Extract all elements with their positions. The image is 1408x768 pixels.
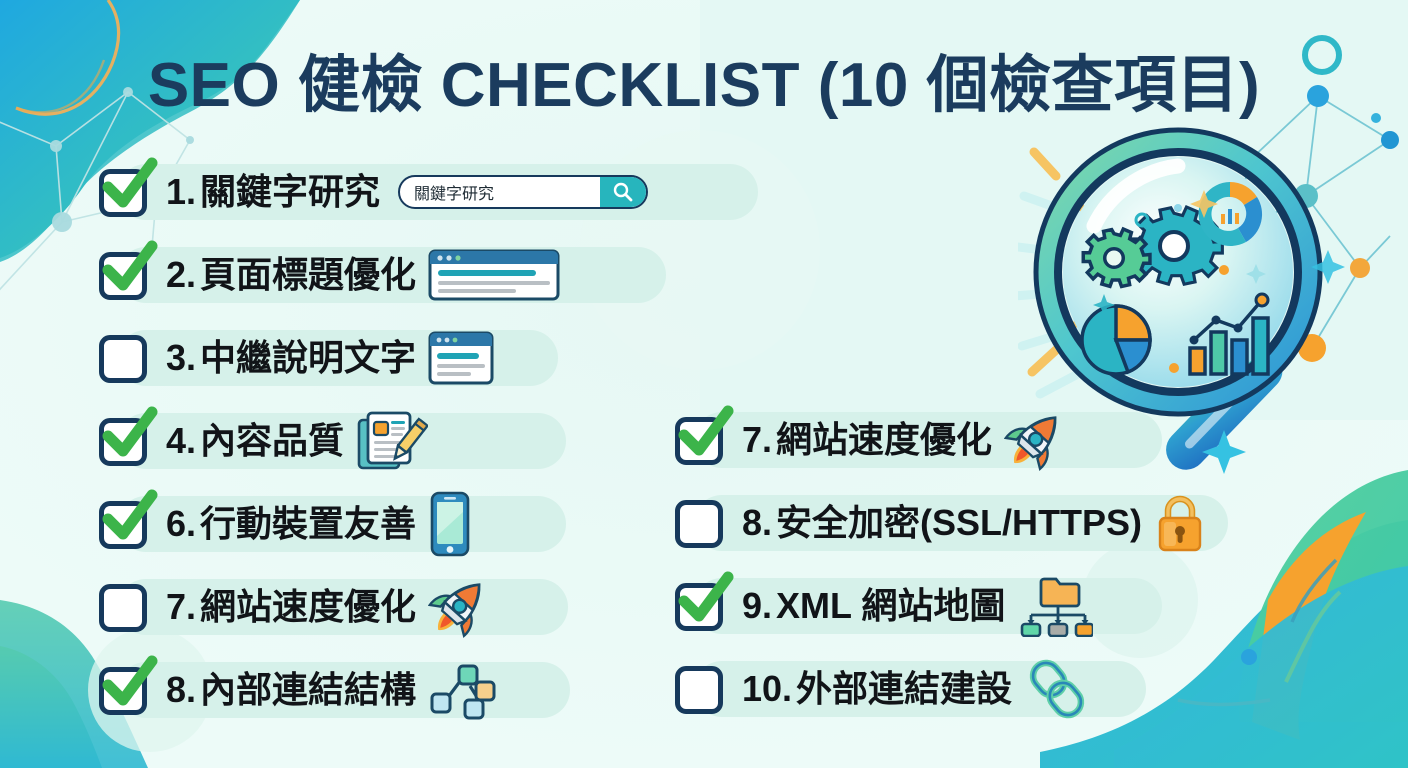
item-number: 10. [742,668,792,709]
checklist-item-3[interactable]: 3.中繼說明文字 [96,326,666,390]
item-text: 安全加密(SSL/HTTPS) [776,502,1142,543]
checkbox-unchecked[interactable] [672,494,730,552]
checklist-item-2[interactable]: 2.頁面標題優化 [96,243,666,307]
item-text: 網站速度優化 [200,586,416,627]
checklist-item-10[interactable]: 10.外部連結建設 [672,657,1232,721]
checkbox-checked[interactable] [672,411,730,469]
checkbox-checked[interactable] [96,412,154,470]
check-icon [674,569,736,631]
item-number: 3. [166,337,196,378]
checkbox-checked[interactable] [672,577,730,635]
checklist-item-4[interactable]: 4.內容品質 [96,409,666,473]
checklist-right-column: 7.網站速度優化 [672,408,1232,740]
checkbox-checked[interactable] [96,495,154,553]
search-icon [612,181,634,203]
link-nodes-icon [428,660,498,720]
item-label: 1.關鍵字研究 [166,174,380,210]
item-number: 4. [166,420,196,461]
checklist-item-6[interactable]: 6.行動裝置友善 [96,492,666,556]
chain-link-icon [1024,657,1090,721]
item-text: XML 網站地圖 [776,585,1005,626]
padlock-icon [1154,493,1206,553]
item-text: 關鍵字研究 [200,171,380,212]
item-text: 中繼說明文字 [200,337,416,378]
keyword-search-bar[interactable]: 關鍵字研究 [398,175,648,209]
mobile-phone-icon [428,491,472,557]
item-text: 內容品質 [200,420,344,461]
item-text: 內部連結結構 [200,669,416,710]
item-number: 7. [742,419,772,460]
item-text: 頁面標題優化 [200,254,416,295]
item-number: 8. [166,669,196,710]
item-label: 7.網站速度優化 [166,589,416,625]
search-button[interactable] [600,177,646,207]
rocket-icon [1004,408,1066,472]
check-icon [98,238,160,300]
checklist-item-1[interactable]: 1.關鍵字研究 關鍵字研究 [96,160,666,224]
item-label: 8.內部連結結構 [166,672,416,708]
item-label: 4.內容品質 [166,423,344,459]
checklist-left-column: 1.關鍵字研究 關鍵字研究 2 [96,160,666,741]
item-number: 8. [742,502,772,543]
checklist-item-7-right[interactable]: 7.網站速度優化 [672,408,1232,472]
item-label: 6.行動裝置友善 [166,506,416,542]
item-label: 3.中繼說明文字 [166,340,416,376]
item-number: 1. [166,171,196,212]
item-number: 9. [742,585,772,626]
checkbox-unchecked[interactable] [96,329,154,387]
item-label: 7.網站速度優化 [742,422,992,458]
item-label: 10.外部連結建設 [742,671,1012,707]
sitemap-icon [1017,575,1093,637]
checklist-item-8-left[interactable]: 8.內部連結結構 [96,658,666,722]
infographic-canvas: SEO 健檢 CHECKLIST (10 個檢查項目) [0,0,1408,768]
checkbox-checked[interactable] [96,661,154,719]
item-number: 6. [166,503,196,544]
item-text: 外部連結建設 [796,668,1012,709]
checklist-item-8-right[interactable]: 8.安全加密(SSL/HTTPS) [672,491,1232,555]
item-number: 2. [166,254,196,295]
checklist-item-7-left[interactable]: 7.網站速度優化 [96,575,666,639]
checkbox-checked[interactable] [96,246,154,304]
item-label: 9.XML 網站地圖 [742,588,1005,624]
browser-window-small-icon [428,331,494,385]
check-icon [98,653,160,715]
rocket-icon [428,575,490,639]
item-label: 8.安全加密(SSL/HTTPS) [742,505,1142,541]
check-icon [674,403,736,465]
document-pencil-icon [356,410,428,472]
item-label: 2.頁面標題優化 [166,257,416,293]
browser-window-icon [428,249,560,301]
item-text: 行動裝置友善 [200,503,416,544]
checkbox-unchecked[interactable] [96,578,154,636]
item-number: 7. [166,586,196,627]
page-title: SEO 健檢 CHECKLIST (10 個檢查項目) [0,34,1408,124]
item-text: 網站速度優化 [776,419,992,460]
checklist-item-9[interactable]: 9.XML 網站地圖 [672,574,1232,638]
checkbox-checked[interactable] [96,163,154,221]
check-icon [98,487,160,549]
search-input[interactable]: 關鍵字研究 [400,180,600,204]
check-icon [98,155,160,217]
checkbox-unchecked[interactable] [672,660,730,718]
check-icon [98,404,160,466]
